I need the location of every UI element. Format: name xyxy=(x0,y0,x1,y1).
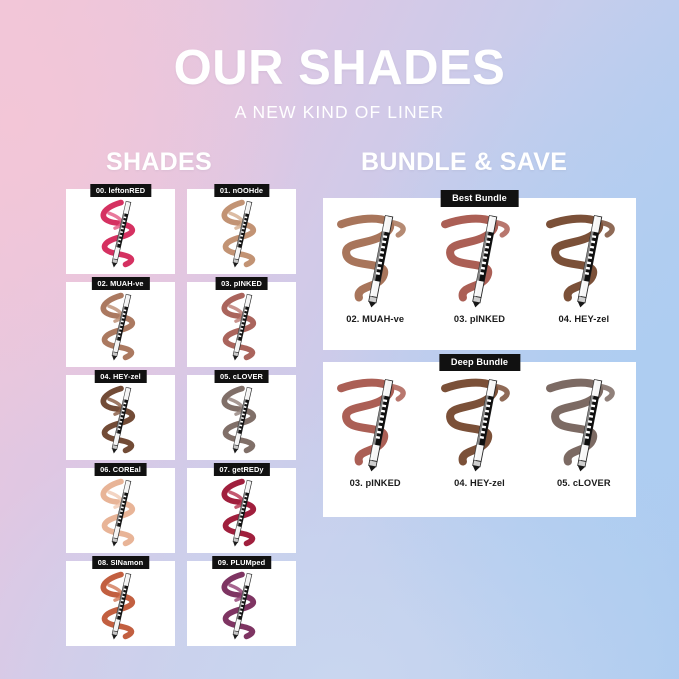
bundle-swirl xyxy=(327,210,423,310)
swatch-swirl xyxy=(196,384,288,458)
shade-artwork xyxy=(187,189,296,274)
shade-swatch-cell[interactable]: 05. cLOVER xyxy=(187,375,296,460)
bundle-item-artwork xyxy=(429,374,529,476)
shade-artwork xyxy=(187,375,296,460)
bundle-item-artwork xyxy=(325,210,425,312)
shade-label-badge: 06. COREal xyxy=(94,463,147,476)
bundle-item[interactable]: 05. cLOVER xyxy=(534,374,634,488)
shade-swatch-cell[interactable]: 03. pINKED xyxy=(187,282,296,367)
bundle-item-artwork xyxy=(534,374,634,476)
shade-label-badge: 04. HEY-zel xyxy=(94,370,147,383)
swatch-swirl xyxy=(75,384,167,458)
shade-artwork xyxy=(187,561,296,646)
swatch-swirl xyxy=(75,570,167,644)
bundle-item-label: 04. HEY-zel xyxy=(429,478,529,488)
shade-artwork xyxy=(66,468,175,553)
section-headings: SHADES BUNDLE & SAVE xyxy=(0,148,679,180)
bundle-swirl xyxy=(536,210,632,310)
bundle-section-heading: BUNDLE & SAVE xyxy=(361,148,567,177)
shade-swatch-cell[interactable]: 09. PLUMped xyxy=(187,561,296,646)
shade-swatch-cell[interactable]: 08. SINamon xyxy=(66,561,175,646)
shades-section-heading: SHADES xyxy=(106,148,212,177)
bundle-items: 02. MUAH-ve 03. pINKED xyxy=(323,210,636,324)
shade-swatch-cell[interactable]: 00. leftonRED xyxy=(66,189,175,274)
shade-label-badge: 05. cLOVER xyxy=(214,370,269,383)
page-subtitle: A NEW KIND OF LINER xyxy=(0,102,679,123)
shade-artwork xyxy=(187,468,296,553)
shade-label-badge: 02. MUAH-ve xyxy=(91,277,149,290)
bundle-item[interactable]: 04. HEY-zel xyxy=(429,374,529,488)
swatch-swirl xyxy=(196,477,288,551)
bundle-item-label: 03. pINKED xyxy=(429,314,529,324)
bundle-card[interactable]: Deep Bundle 03. pINKED xyxy=(323,362,636,517)
bundle-card[interactable]: Best Bundle 02. MUAH-ve xyxy=(323,198,636,350)
shade-swatch-cell[interactable]: 01. nOOHde xyxy=(187,189,296,274)
bundle-swirl xyxy=(536,374,632,474)
bundle-swirl xyxy=(431,210,527,310)
bundle-item[interactable]: 03. pINKED xyxy=(429,210,529,324)
shade-artwork xyxy=(187,282,296,367)
shade-label-badge: 07. getREDy xyxy=(213,463,269,476)
shade-swatch-cell[interactable]: 07. getREDy xyxy=(187,468,296,553)
shade-label-badge: 03. pINKED xyxy=(215,277,268,290)
bundle-item[interactable]: 04. HEY-zel xyxy=(534,210,634,324)
bundle-badge: Deep Bundle xyxy=(439,354,520,371)
bundle-item[interactable]: 02. MUAH-ve xyxy=(325,210,425,324)
shade-artwork xyxy=(66,189,175,274)
swatch-swirl xyxy=(196,198,288,272)
bundle-item-artwork xyxy=(325,374,425,476)
shade-label-badge: 09. PLUMped xyxy=(212,556,272,569)
shade-swatch-cell[interactable]: 06. COREal xyxy=(66,468,175,553)
bundle-badge: Best Bundle xyxy=(440,190,519,207)
page-header: OUR SHADES A NEW KIND OF LINER xyxy=(0,0,679,123)
shade-artwork xyxy=(66,282,175,367)
bundle-item-artwork xyxy=(534,210,634,312)
shades-grid: 00. leftonRED 01. nOOHde xyxy=(66,189,296,646)
bundle-item[interactable]: 03. pINKED xyxy=(325,374,425,488)
shade-label-badge: 08. SINamon xyxy=(92,556,149,569)
shade-artwork xyxy=(66,375,175,460)
shade-swatch-cell[interactable]: 04. HEY-zel xyxy=(66,375,175,460)
shade-swatch-cell[interactable]: 02. MUAH-ve xyxy=(66,282,175,367)
bundle-item-label: 02. MUAH-ve xyxy=(325,314,425,324)
swatch-swirl xyxy=(75,291,167,365)
bundle-item-label: 03. pINKED xyxy=(325,478,425,488)
bundle-item-label: 05. cLOVER xyxy=(534,478,634,488)
swatch-swirl xyxy=(196,570,288,644)
swatch-swirl xyxy=(196,291,288,365)
swatch-swirl xyxy=(75,198,167,272)
bundle-item-label: 04. HEY-zel xyxy=(534,314,634,324)
bundle-items: 03. pINKED 04. HEY-zel xyxy=(323,374,636,488)
bundle-swirl xyxy=(431,374,527,474)
swatch-swirl xyxy=(75,477,167,551)
bundle-swirl xyxy=(327,374,423,474)
shade-artwork xyxy=(66,561,175,646)
bundle-item-artwork xyxy=(429,210,529,312)
page-title: OUR SHADES xyxy=(0,44,679,93)
shade-label-badge: 01. nOOHde xyxy=(214,184,269,197)
shade-label-badge: 00. leftonRED xyxy=(90,184,151,197)
